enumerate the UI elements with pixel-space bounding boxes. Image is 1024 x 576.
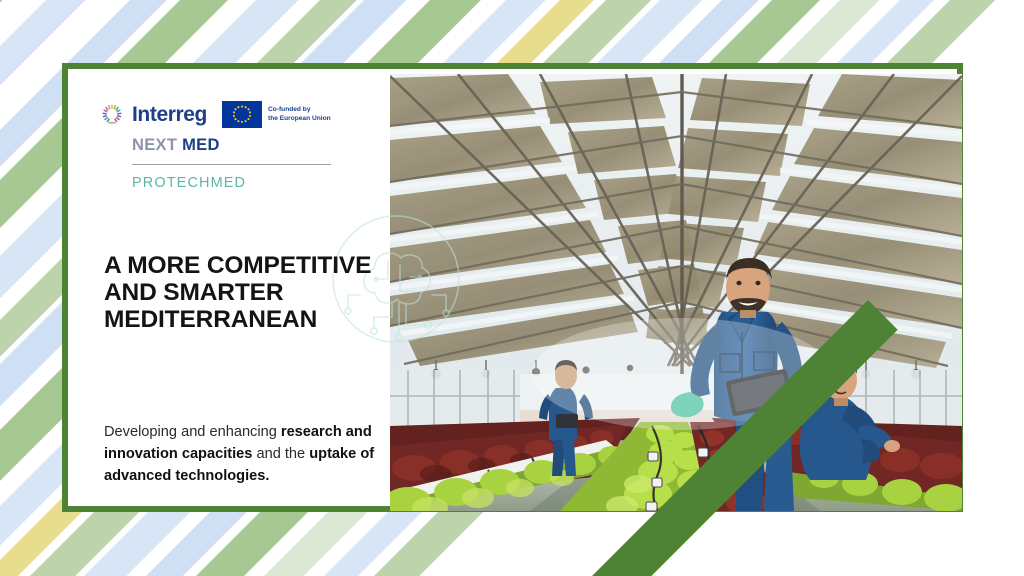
programme-name-next: NEXT [132, 136, 177, 154]
content-card: Interreg [62, 63, 963, 512]
headline-line-2: AND SMARTER [104, 279, 283, 306]
logo-lockup: Interreg [101, 101, 363, 190]
eu-text-line-2: the European Union [268, 115, 331, 122]
programme-name: NEXT MED [132, 137, 363, 154]
headline-line-3: MEDITERRANEAN [104, 306, 317, 333]
interreg-wordmark: Interreg [132, 104, 207, 125]
page-title: A MORE COMPETITIVE AND SMARTER MEDITERRA… [104, 253, 389, 333]
logo-divider [132, 164, 331, 165]
body-paragraph: Developing and enhancing research and in… [104, 421, 382, 488]
eu-text-line-1: Co-funded by [268, 106, 311, 113]
body-segment-3: and the [252, 446, 309, 462]
eu-cofunding-text: Co-funded by the European Union [268, 106, 331, 123]
slide-canvas: Interreg [0, 0, 1024, 576]
interreg-emblem-icon [101, 104, 123, 126]
left-content-column: Interreg [68, 69, 390, 506]
body-segment-1: Developing and enhancing [104, 424, 281, 440]
headline-line-1: A MORE COMPETITIVE [104, 252, 371, 279]
greenhouse-hydroponics-photo [390, 74, 962, 511]
project-name: PROTECHMED [132, 176, 363, 191]
eu-cofunding-block: Co-funded by the European Union [222, 101, 331, 128]
programme-name-med: MED [177, 136, 219, 154]
interreg-logo-row: Interreg [101, 101, 363, 128]
eu-flag-icon [222, 101, 262, 128]
